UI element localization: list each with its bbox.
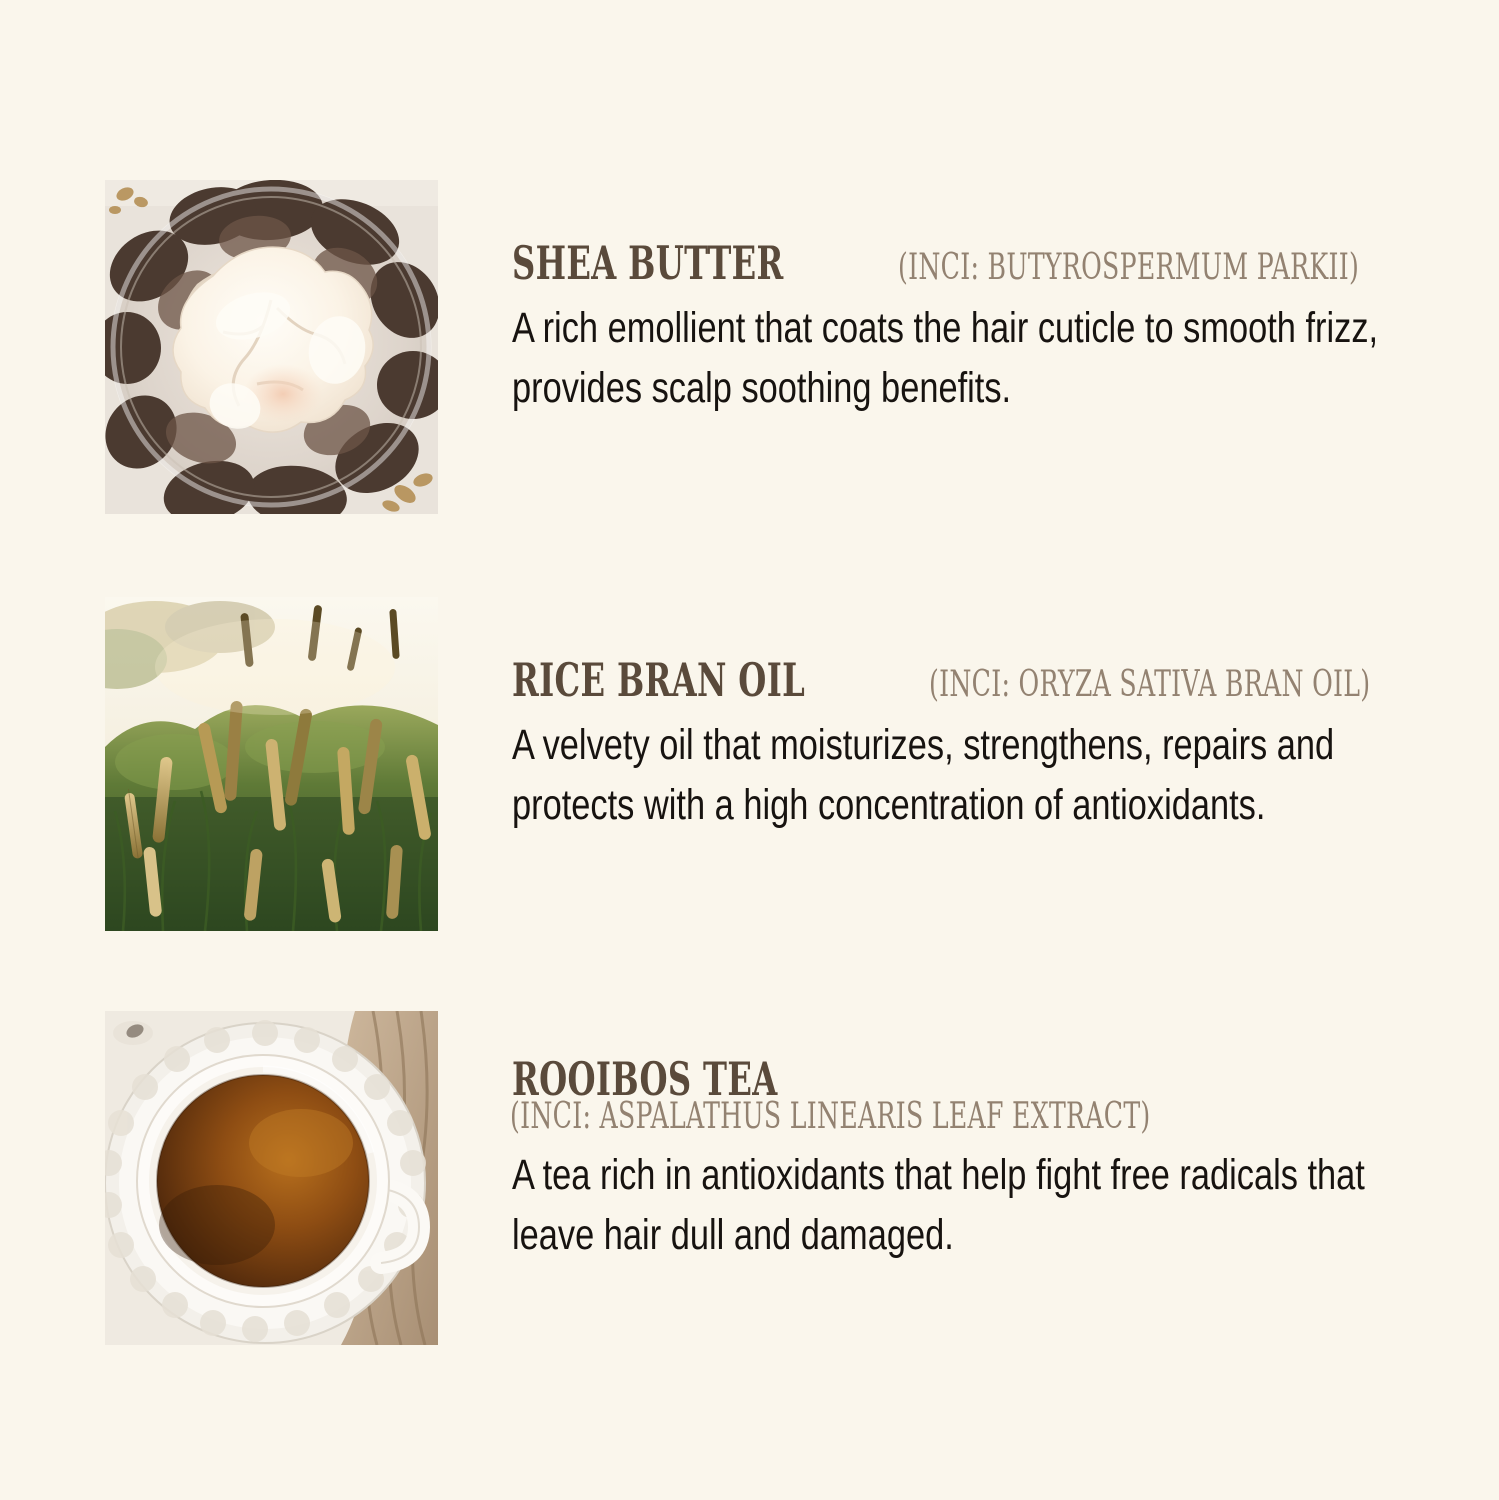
ingredient-benefits-panel: SHEA BUTTER(INCI: BUTYROSPERMUM PARKII) … (0, 0, 1499, 1500)
ingredient-description: A rich emollient that coats the hair cut… (512, 298, 1444, 418)
shea-butter-illustration (105, 180, 438, 514)
rice-bran-field-photo (105, 597, 438, 931)
ingredient-inci: (INCI: ASPALATHUS LINEARIS LEAF EXTRACT) (510, 1098, 1151, 1135)
rice-field-illustration (105, 597, 438, 931)
ingredient-name: RICE BRAN OIL (512, 657, 805, 705)
ingredient-row: ROOIBOS TEA (INCI: ASPALATHUS LINEARIS L… (105, 1011, 1447, 1345)
ingredient-heading: ROOIBOS TEA (INCI: ASPALATHUS LINEARIS L… (512, 1056, 1447, 1135)
ingredient-name: SHEA BUTTER (512, 240, 784, 288)
ingredient-copy: RICE BRAN OIL(INCI: ORYZA SATIVA BRAN OI… (512, 597, 1447, 835)
ingredient-inci: (INCI: ORYZA SATIVA BRAN OIL) (929, 666, 1370, 703)
rooibos-tea-cup-photo (105, 1011, 438, 1345)
ingredient-copy: SHEA BUTTER(INCI: BUTYROSPERMUM PARKII) … (512, 180, 1447, 418)
ingredient-heading: SHEA BUTTER(INCI: BUTYROSPERMUM PARKII) (512, 240, 1447, 288)
ingredient-copy: ROOIBOS TEA (INCI: ASPALATHUS LINEARIS L… (512, 1011, 1447, 1265)
ingredient-description: A velvety oil that moisturizes, strength… (512, 715, 1444, 835)
ingredient-heading: RICE BRAN OIL(INCI: ORYZA SATIVA BRAN OI… (512, 657, 1447, 705)
tea-cup-illustration (105, 1011, 438, 1345)
ingredient-row: SHEA BUTTER(INCI: BUTYROSPERMUM PARKII) … (105, 180, 1447, 514)
shea-butter-photo (105, 180, 438, 514)
ingredient-description: A tea rich in antioxidants that help fig… (512, 1145, 1444, 1265)
ingredient-row: RICE BRAN OIL(INCI: ORYZA SATIVA BRAN OI… (105, 597, 1447, 931)
ingredient-inci: (INCI: BUTYROSPERMUM PARKII) (898, 249, 1359, 286)
